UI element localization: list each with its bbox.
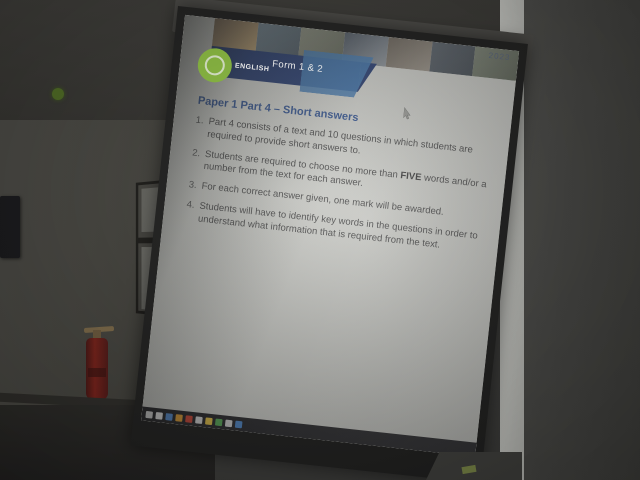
os-taskbar[interactable] [141,407,477,457]
taskbar-icon-5[interactable] [185,415,193,423]
right-wall-shadow [524,0,640,480]
taskbar-icon-7[interactable] [205,417,213,425]
taskbar-icon-4[interactable] [175,414,183,422]
taskbar-icon-6[interactable] [195,416,203,424]
projection-screen-frame: 2023 Form 1 & 2 ENGLISH Paper 1 Part 4 –… [130,6,528,480]
taskbar-icon-10[interactable] [235,420,243,428]
bullet-emphasis: FIVE [400,170,422,183]
taskbar-icon-1[interactable] [145,410,153,418]
classroom-scene: 2023 Form 1 & 2 ENGLISH Paper 1 Part 4 –… [0,0,640,480]
bullet-number: 3. [188,179,197,193]
taskbar-icon-3[interactable] [165,413,173,421]
presentation-slide[interactable]: 2023 Form 1 & 2 ENGLISH Paper 1 Part 4 –… [141,15,519,457]
ceiling-sensor-icon [52,88,64,100]
projection-screen-surface[interactable]: 2023 Form 1 & 2 ENGLISH Paper 1 Part 4 –… [141,15,519,457]
projection-screen-assembly: 2023 Form 1 & 2 ENGLISH Paper 1 Part 4 –… [176,0,536,456]
photo-thumb [429,42,476,77]
taskbar-icon-9[interactable] [225,419,233,427]
photo-thumb [386,37,433,72]
bullet-number: 4. [184,199,195,225]
taskbar-icon-8[interactable] [215,418,223,426]
bullet-number: 1. [194,115,205,141]
bullet-number: 2. [190,147,201,173]
badge-inner-ring [204,54,226,76]
wall-device-panel[interactable] [0,196,20,258]
taskbar-icon-2[interactable] [155,412,163,420]
mouse-pointer-icon [403,107,411,120]
slide-bullet-list: 1.Part 4 consists of a text and 10 quest… [184,115,497,265]
fire-extinguisher-label [88,368,106,377]
